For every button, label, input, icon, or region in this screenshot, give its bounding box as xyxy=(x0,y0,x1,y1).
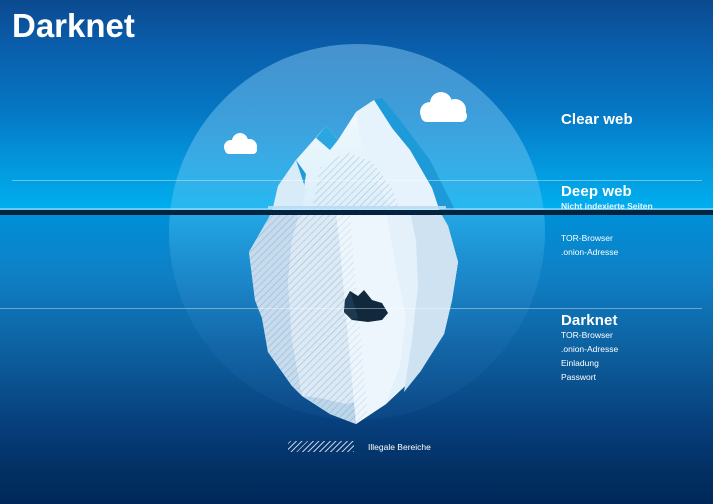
page-title: Darknet xyxy=(12,7,135,45)
label-deep-web-requirements: TOR-Browser .onion-Adresse xyxy=(561,232,618,260)
deep-web-title: Deep web xyxy=(561,183,653,200)
clear-web-title: Clear web xyxy=(561,111,633,128)
deep-web-subtitle: Nicht indexierte Seiten xyxy=(561,200,653,212)
darknet-requirement-item: Passwort xyxy=(561,371,618,385)
divider-darknet xyxy=(0,308,702,309)
infographic-canvas: Darknet Clear web Deep web Nicht indexie… xyxy=(0,0,713,504)
legend-label: Illegale Bereiche xyxy=(368,442,431,452)
darknet-title: Darknet xyxy=(561,312,618,329)
legend: Illegale Bereiche xyxy=(288,441,431,452)
darknet-requirement-item: TOR-Browser xyxy=(561,329,618,343)
deep-web-requirement-item: TOR-Browser xyxy=(561,232,618,246)
darknet-requirement-item: .onion-Adresse xyxy=(561,343,618,357)
label-deep-web: Deep web Nicht indexierte Seiten xyxy=(561,183,653,213)
divider-deep-web xyxy=(12,180,702,181)
darknet-requirement-item: Einladung xyxy=(561,357,618,371)
deep-web-requirement-item: .onion-Adresse xyxy=(561,246,618,260)
hatch-pattern-swatch xyxy=(288,441,354,452)
label-darknet: Darknet TOR-Browser .onion-Adresse Einla… xyxy=(561,312,618,384)
label-clear-web: Clear web xyxy=(561,111,633,128)
iceberg-tip xyxy=(272,98,456,212)
